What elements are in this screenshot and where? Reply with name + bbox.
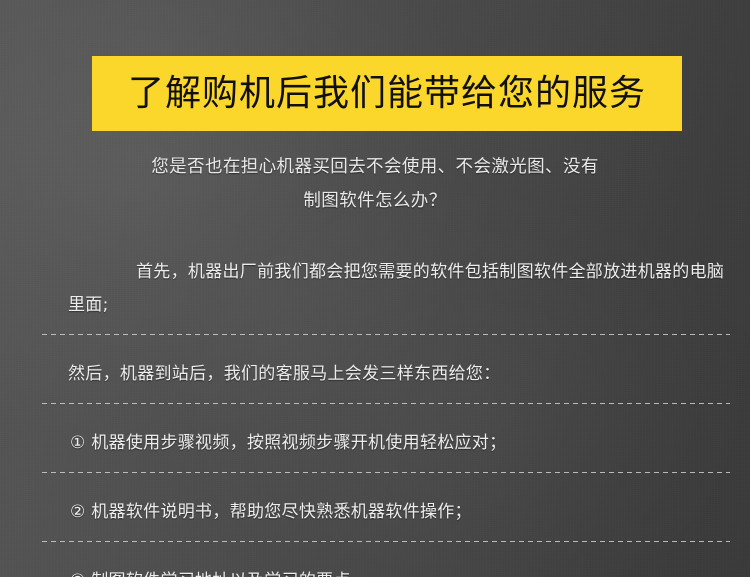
list-item: ① 机器使用步骤视频，按照视频步骤开机使用轻松应对； (42, 427, 730, 460)
list-item: ③ 制图软件学习地址以及学习的要点。 (42, 565, 730, 577)
service-list: 首先，机器出厂前我们都会把您需要的软件包括制图软件全部放进机器的电脑里面; 然后… (42, 256, 730, 577)
spacer (42, 473, 730, 496)
spacer (42, 542, 730, 565)
spacer (42, 460, 730, 472)
divider-4 (42, 541, 730, 542)
deliverable-3-text: ③ 制图软件学习地址以及学习的要点。 (42, 565, 730, 577)
divider-1 (42, 334, 730, 335)
first-step-text: 首先，机器出厂前我们都会把您需要的软件包括制图软件全部放进机器的电脑里面; (42, 256, 730, 322)
list-item: 然后，机器到站后，我们的客服马上会发三样东西给您： (42, 358, 730, 391)
subtitle-line-1: 您是否也在担心机器买回去不会使用、不会激光图、没有 (95, 150, 655, 184)
page-title: 了解购机后我们能带给您的服务 (128, 76, 646, 112)
spacer (42, 391, 730, 403)
subtitle-line-2: 制图软件怎么办？ (95, 184, 655, 218)
deliverable-1-text: ① 机器使用步骤视频，按照视频步骤开机使用轻松应对； (42, 427, 730, 460)
spacer (42, 529, 730, 541)
list-item: 首先，机器出厂前我们都会把您需要的软件包括制图软件全部放进机器的电脑里面; (42, 256, 730, 322)
then-step-text: 然后，机器到站后，我们的客服马上会发三样东西给您： (42, 358, 730, 391)
divider-3 (42, 472, 730, 473)
spacer (42, 335, 730, 358)
list-item: ② 机器软件说明书，帮助您尽快熟悉机器软件操作； (42, 496, 730, 529)
deliverable-2-text: ② 机器软件说明书，帮助您尽快熟悉机器软件操作； (42, 496, 730, 529)
spacer (42, 322, 730, 334)
spacer (42, 404, 730, 427)
headline-banner: 了解购机后我们能带给您的服务 (92, 56, 682, 131)
page-content: 了解购机后我们能带给您的服务 您是否也在担心机器买回去不会使用、不会激光图、没有… (0, 0, 750, 577)
promo-page: 了解购机后我们能带给您的服务 您是否也在担心机器买回去不会使用、不会激光图、没有… (0, 0, 750, 577)
subtitle-block: 您是否也在担心机器买回去不会使用、不会激光图、没有 制图软件怎么办？ (95, 150, 655, 218)
divider-2 (42, 403, 730, 404)
